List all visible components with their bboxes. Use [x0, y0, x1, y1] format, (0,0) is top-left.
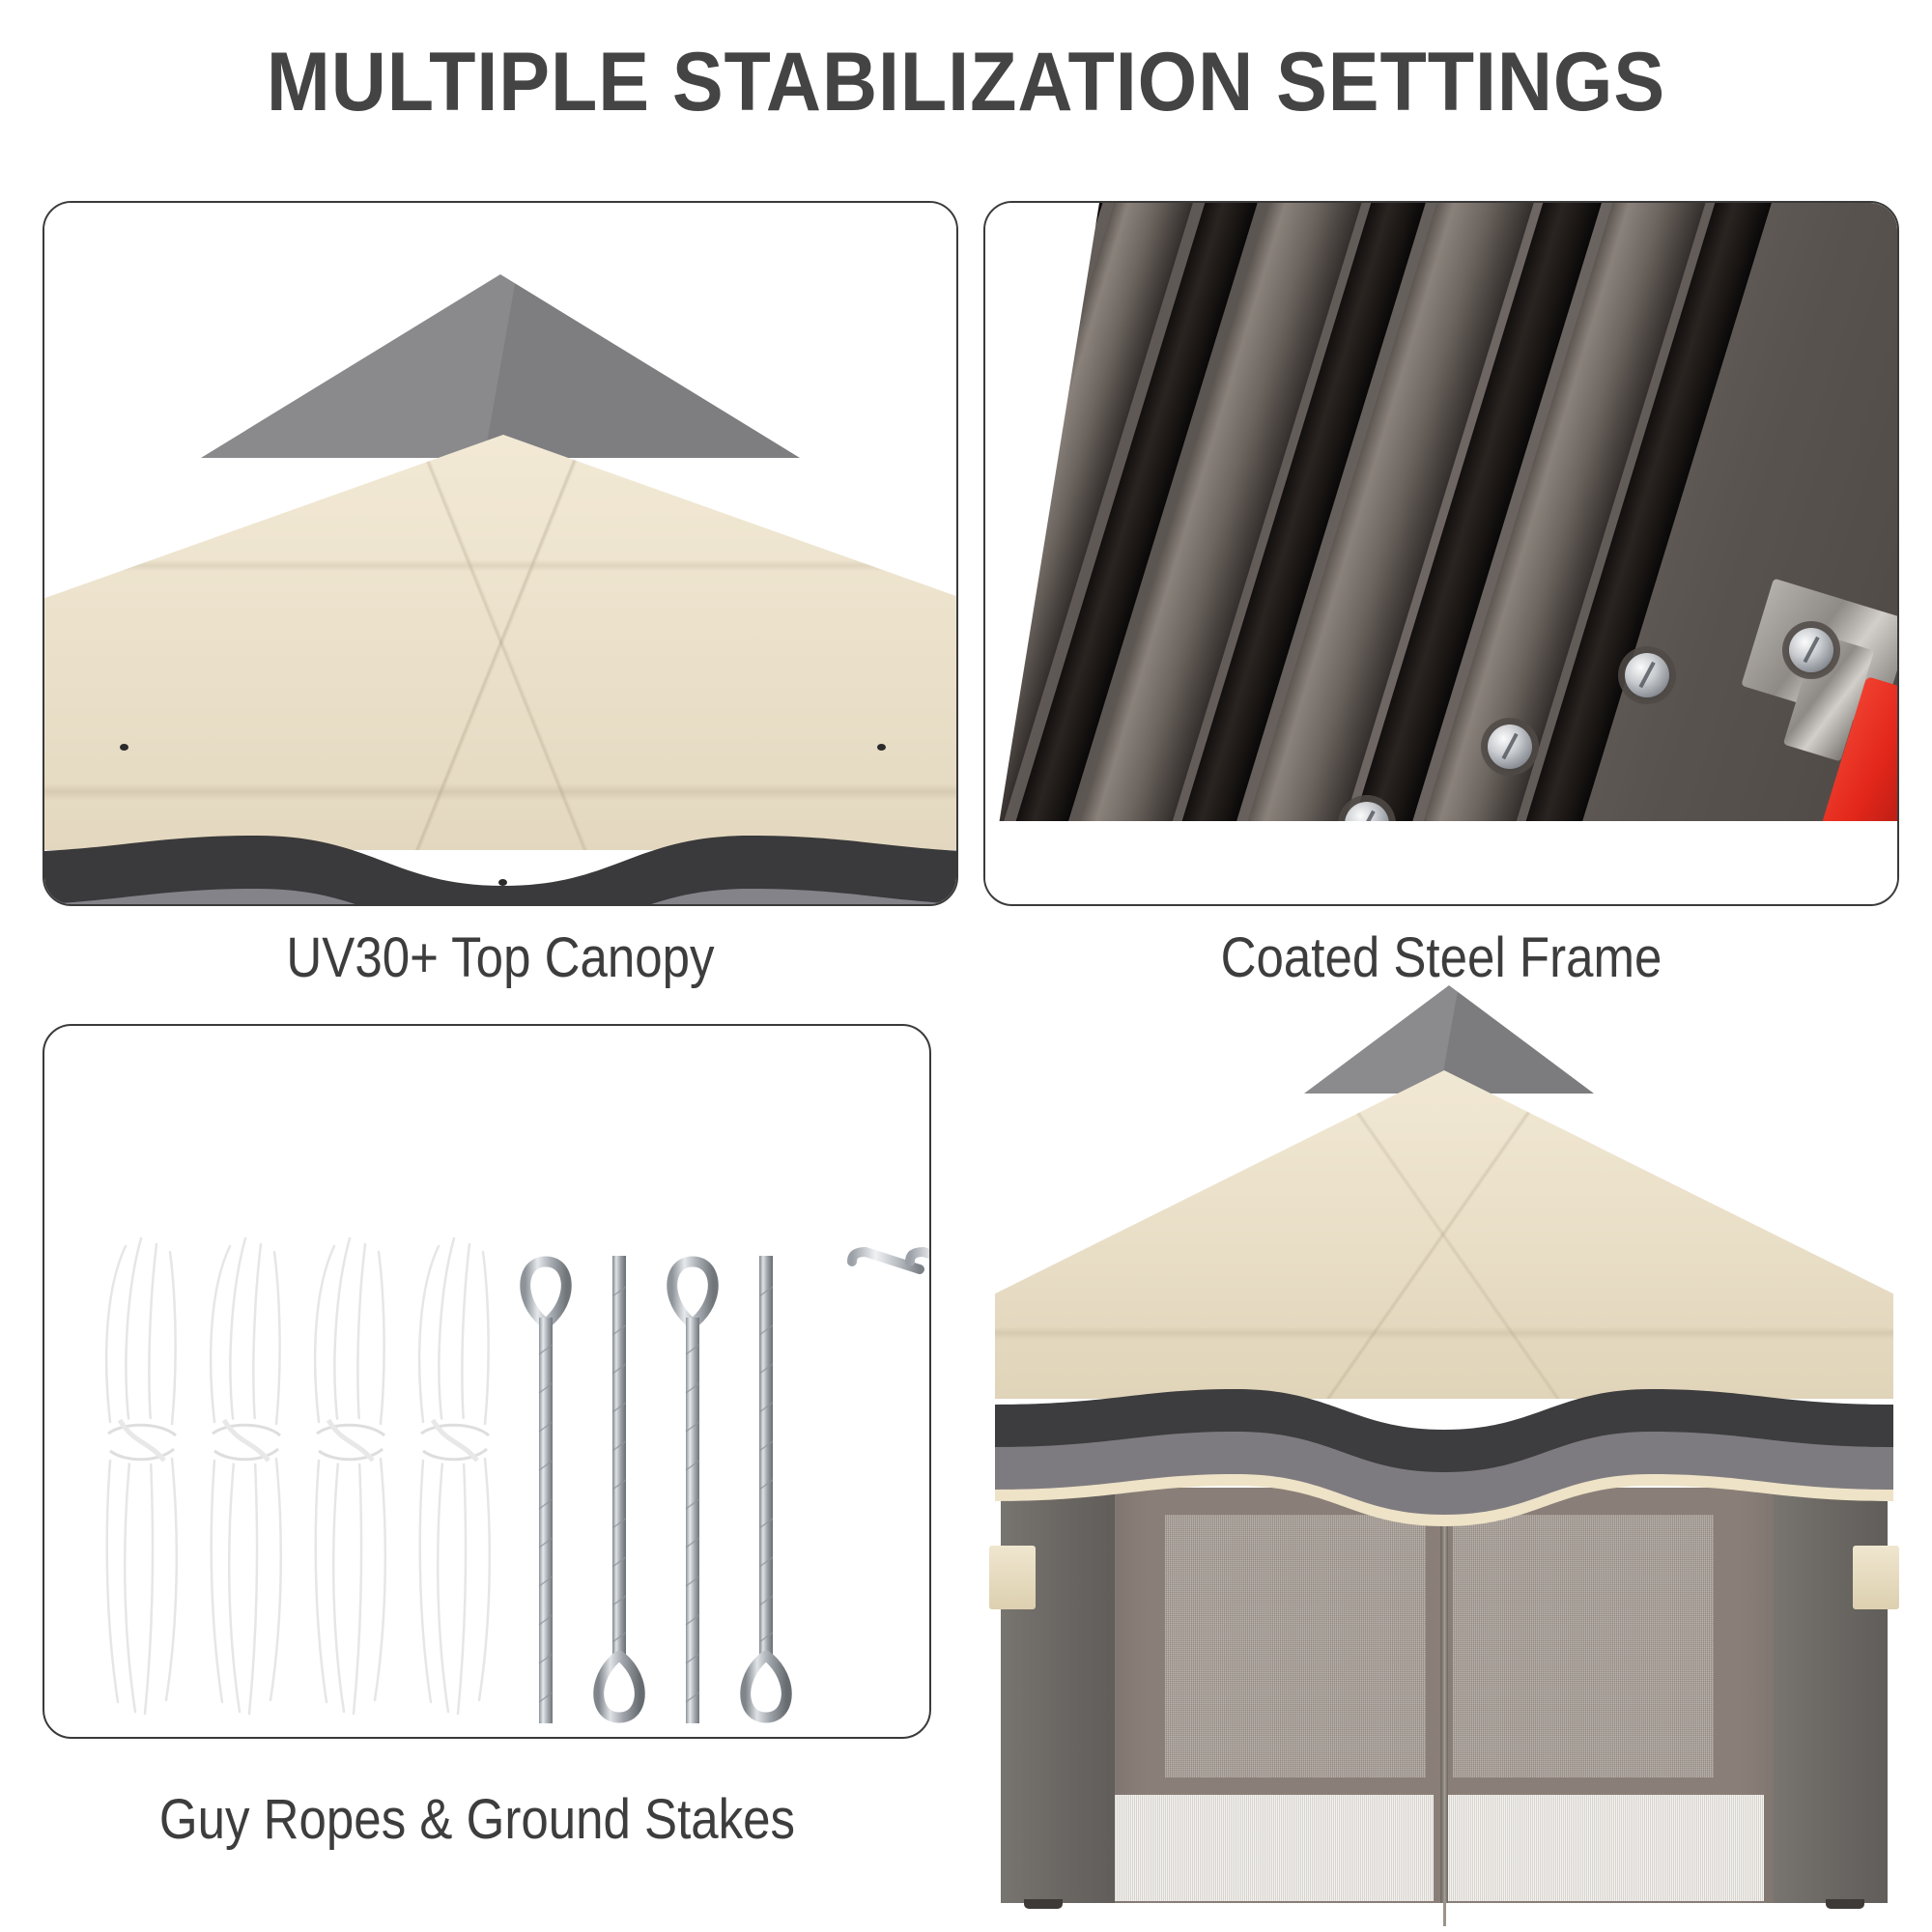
gazebo-foot-left [1024, 1899, 1063, 1909]
canopy-vent-dot [877, 744, 886, 751]
loop-stake [738, 1248, 794, 1731]
frame-screw [1789, 628, 1833, 672]
loop-stake [591, 1248, 647, 1731]
gazebo-body [1001, 1488, 1888, 1903]
gazebo-lower-panel-right [1445, 1795, 1764, 1901]
steel-frame-photo [985, 203, 1897, 904]
hook-stake [896, 1246, 931, 1729]
gazebo-foot-right [1826, 1899, 1864, 1909]
page-title: MULTIPLE STABILIZATION SETTINGS [77, 35, 1855, 130]
gazebo-tie-tab-left [989, 1546, 1036, 1609]
frame-screw [1625, 653, 1669, 697]
loop-stake [518, 1248, 574, 1731]
gazebo-screen-wall [1109, 1488, 1779, 1903]
guy-rope-bundle [410, 1219, 498, 1739]
guy-rope-bundle [97, 1219, 185, 1739]
gazebo-door-zipper [1440, 1488, 1448, 1903]
canopy-vent-dot [120, 744, 128, 751]
gazebo-mesh-panel-right [1453, 1515, 1714, 1777]
canopy-vent-dot [498, 879, 507, 886]
guy-rope-bundle [201, 1219, 290, 1739]
gazebo-zipper-pull [1443, 1901, 1446, 1926]
panel-top-canopy [43, 201, 958, 906]
guy-rope-bundle [305, 1219, 394, 1739]
canopy-peak-shape [201, 274, 800, 458]
gazebo-lower-panel-left [1115, 1795, 1434, 1901]
gazebo-roof-seams [995, 1070, 1893, 1399]
panel-steel-frame [983, 201, 1899, 906]
gazebo-mesh-panel-left [1165, 1515, 1426, 1777]
infographic-page: MULTIPLE STABILIZATION SETTINGS UV30+ To… [0, 0, 1932, 1932]
caption-steel-frame: Coated Steel Frame [1038, 925, 1844, 990]
gazebo-tie-tab-right [1853, 1546, 1899, 1609]
caption-top-canopy: UV30+ Top Canopy [98, 925, 903, 990]
panel-ropes-stakes [43, 1024, 931, 1739]
canopy-roof-creases [43, 435, 958, 850]
full-gazebo-image [966, 985, 1932, 1913]
loop-stake [665, 1248, 721, 1731]
canopy-closeup-image [44, 203, 956, 904]
caption-ropes-stakes: Guy Ropes & Ground Stakes [77, 1787, 876, 1852]
frame-screw [1488, 724, 1532, 769]
frame-photo-edge-bottom [985, 821, 1899, 906]
